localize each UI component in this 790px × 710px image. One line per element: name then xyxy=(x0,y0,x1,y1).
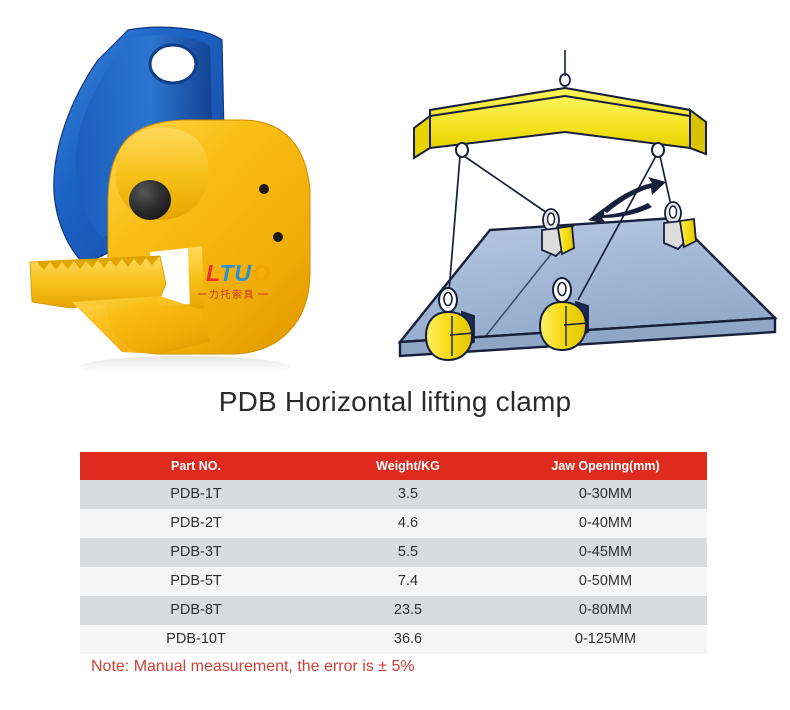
table-row: PDB-2T 4.6 0-40MM xyxy=(80,509,707,538)
cell-jaw: 0-40MM xyxy=(504,509,707,538)
table-row: PDB-5T 7.4 0-50MM xyxy=(80,567,707,596)
column-header-part-no: Part NO. xyxy=(80,452,312,480)
bolt-hole-upper xyxy=(259,184,269,194)
svg-text:LTUO: LTUO xyxy=(206,260,271,286)
cell-jaw: 0-50MM xyxy=(504,567,707,596)
cell-weight: 5.5 xyxy=(312,538,504,567)
cell-weight: 3.5 xyxy=(312,480,504,509)
usage-illustration xyxy=(390,50,780,380)
pivot-pin xyxy=(129,180,171,220)
product-photo: LTUO 力托索具 xyxy=(10,22,340,378)
cell-weight: 7.4 xyxy=(312,567,504,596)
spreader-beam xyxy=(414,50,706,158)
cell-weight: 4.6 xyxy=(312,509,504,538)
measurement-note: Note: Manual measurement, the error is ±… xyxy=(91,658,415,676)
cell-jaw: 0-45MM xyxy=(504,538,707,567)
cell-jaw: 0-125MM xyxy=(504,625,707,654)
cell-weight: 23.5 xyxy=(312,596,504,625)
specification-table: Part NO. Weight/KG Jaw Opening(mm) PDB-1… xyxy=(80,452,707,654)
clamp-rear-right xyxy=(664,202,696,249)
cell-part-no: PDB-10T xyxy=(80,625,312,654)
cell-part-no: PDB-1T xyxy=(80,480,312,509)
table-row: PDB-10T 36.6 0-125MM xyxy=(80,625,707,654)
product-image-band: LTUO 力托索具 xyxy=(0,0,790,378)
cell-part-no: PDB-3T xyxy=(80,538,312,567)
photo-shadow xyxy=(80,356,290,378)
beam-eye-right xyxy=(652,143,664,157)
table-header-row: Part NO. Weight/KG Jaw Opening(mm) xyxy=(80,452,707,480)
rotation-arrows-icon xyxy=(588,177,666,224)
page-title: PDB Horizontal lifting clamp xyxy=(0,386,790,418)
beam-eye-left xyxy=(456,143,468,157)
cell-jaw: 0-30MM xyxy=(504,480,707,509)
cell-part-no: PDB-8T xyxy=(80,596,312,625)
table-row: PDB-8T 23.5 0-80MM xyxy=(80,596,707,625)
table-row: PDB-1T 3.5 0-30MM xyxy=(80,480,707,509)
column-header-jaw: Jaw Opening(mm) xyxy=(504,452,707,480)
cell-part-no: PDB-5T xyxy=(80,567,312,596)
cell-part-no: PDB-2T xyxy=(80,509,312,538)
brand-logo-subtext: 力托索具 xyxy=(209,288,255,301)
bolt-hole-lower xyxy=(273,232,283,242)
cell-weight: 36.6 xyxy=(312,625,504,654)
clamp-rear-left xyxy=(542,209,574,256)
table-row: PDB-3T 5.5 0-45MM xyxy=(80,538,707,567)
cell-jaw: 0-80MM xyxy=(504,596,707,625)
jaw-slot-wall xyxy=(188,246,204,310)
column-header-weight: Weight/KG xyxy=(312,452,504,480)
